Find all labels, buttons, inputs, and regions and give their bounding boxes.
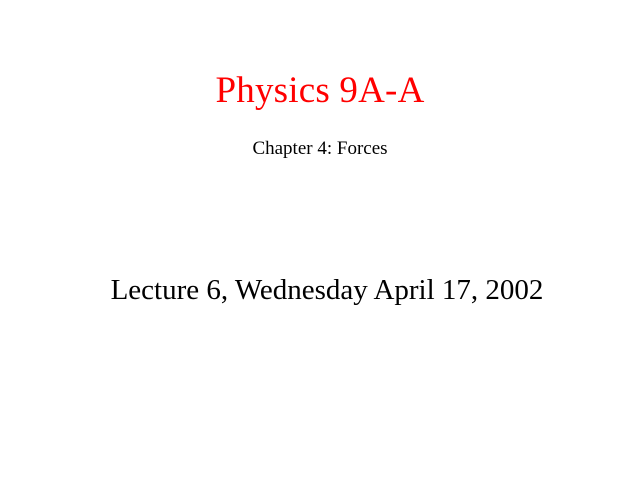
chapter-subtitle: Chapter 4: Forces	[0, 137, 640, 161]
subtitle-block: Chapter 4: Forces	[0, 137, 640, 161]
page-title: Physics 9A-A	[0, 70, 640, 112]
lecture-date-line: Lecture 6, Wednesday April 17, 2002	[14, 272, 640, 308]
presentation-slide: Physics 9A-A Chapter 4: Forces Lecture 6…	[0, 0, 640, 480]
title-block: Physics 9A-A	[0, 70, 640, 112]
lecture-block: Lecture 6, Wednesday April 17, 2002	[0, 272, 640, 308]
